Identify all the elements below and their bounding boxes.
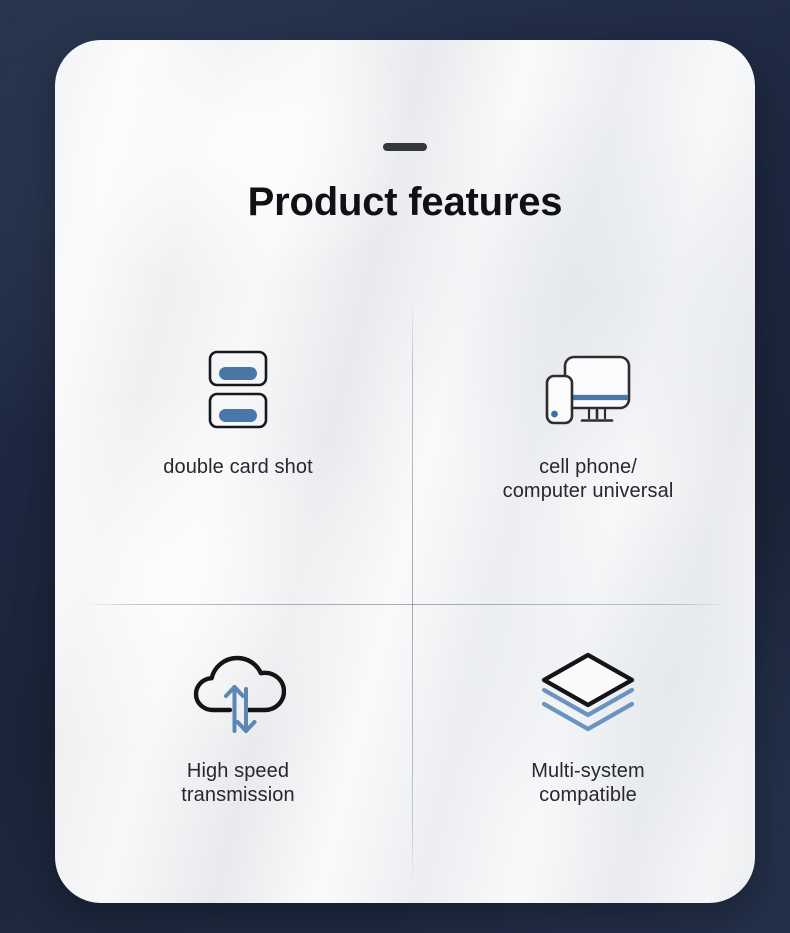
features-grid: double card shot [55,295,755,895]
dual-card-slots-icon [194,337,282,433]
feature-item-double-card-shot: double card shot [63,299,413,599]
feature-item-multi-system-compatible: Multi-system compatible [413,609,755,903]
cloud-transfer-arrows-icon [190,637,286,733]
feature-item-cell-phone-computer-universal: cell phone/ computer universal [413,299,755,599]
product-features-card: Product features double card shot [55,40,755,903]
page-background: Product features double card shot [0,0,790,933]
feature-item-high-speed-transmission: High speed transmission [63,609,413,903]
grid-horizontal-divider [83,604,728,605]
feature-label: double card shot [163,455,312,479]
feature-label: cell phone/ computer universal [503,455,674,504]
feature-label: Multi-system compatible [531,759,644,808]
page-title: Product features [55,180,755,225]
stacked-layers-icon [536,637,640,733]
feature-label: High speed transmission [181,759,294,808]
card-handle-bar-icon [383,143,427,151]
monitor-and-phone-icon [538,337,638,433]
